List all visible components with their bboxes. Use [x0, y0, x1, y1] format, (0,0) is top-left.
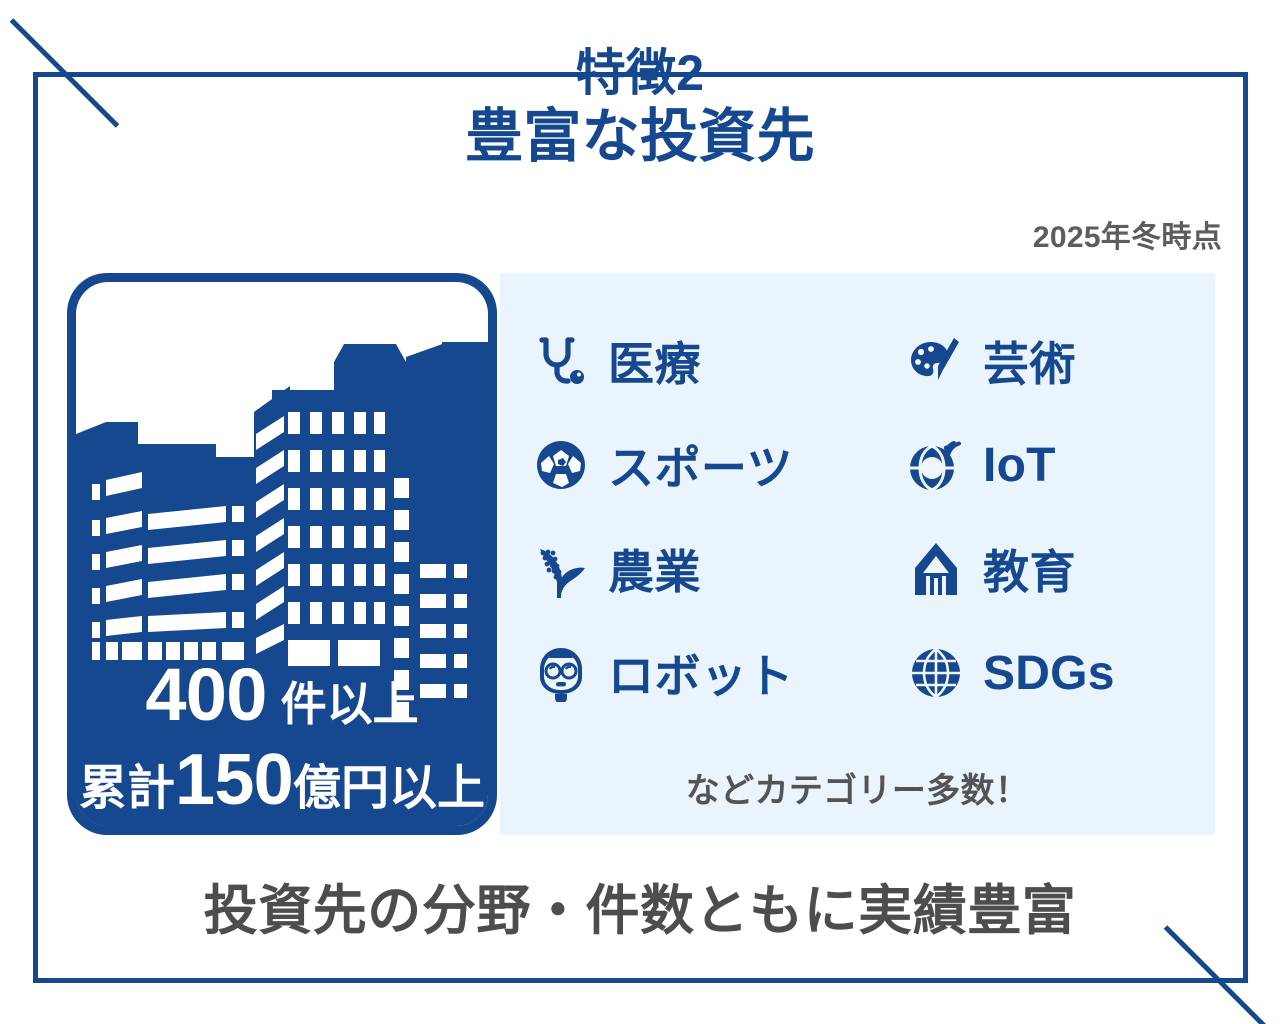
category-label: 芸術 [983, 328, 1076, 394]
as-of-date-label: 2025年冬時点 [1033, 212, 1222, 256]
category-panel: 医療 芸術 [500, 273, 1215, 835]
category-item-iot[interactable]: IoT [905, 434, 1190, 496]
title-eyebrow: 特徴2 [0, 44, 1280, 103]
globe-wifi-icon [905, 434, 967, 496]
category-label: ロボット [608, 640, 794, 706]
category-item-medical[interactable]: 医療 [530, 328, 905, 394]
investment-stat-card: 400 件以上 累計 150 億円以上 [67, 273, 497, 835]
stat-total-value: 150 [175, 739, 293, 821]
frame-bottom-line [33, 978, 1248, 983]
stat-total-row: 累計 150 億円以上 [67, 739, 497, 821]
soccer-ball-icon [530, 434, 592, 496]
category-item-robot[interactable]: ロボット [530, 640, 905, 706]
category-item-agriculture[interactable]: 農業 [530, 536, 905, 602]
robot-head-icon [530, 642, 592, 704]
category-label: スポーツ [608, 432, 793, 498]
frame-right-line [1243, 72, 1248, 983]
category-item-sdgs[interactable]: SDGs [905, 642, 1190, 704]
summary-caption: 投資先の分野・件数ともに実績豊富 [0, 866, 1280, 945]
page-title: 特徴2 豊富な投資先 [0, 44, 1280, 171]
stat-card-text: 400 件以上 累計 150 億円以上 [67, 652, 497, 821]
stethoscope-icon [530, 330, 592, 392]
palette-brush-icon [905, 330, 967, 392]
category-grid: 医療 芸術 [530, 309, 1190, 725]
pencil-icon [905, 538, 967, 600]
infographic-slide: 特徴2 豊富な投資先 2025年冬時点 [0, 0, 1280, 1024]
title-main: 豊富な投資先 [0, 103, 1280, 171]
stat-total-suffix: 億円以上 [293, 748, 485, 818]
category-footer-note: などカテゴリー多数！ [500, 763, 1215, 812]
category-label: 教育 [983, 536, 1076, 602]
globe-grid-icon [905, 642, 967, 704]
stat-count-unit: 件以上 [281, 668, 419, 734]
category-label: SDGs [983, 646, 1115, 701]
stat-total-prefix: 累計 [79, 748, 175, 818]
category-item-education[interactable]: 教育 [905, 536, 1190, 602]
wheat-stalk-icon [530, 538, 592, 600]
category-item-sports[interactable]: スポーツ [530, 432, 905, 498]
stat-count-row: 400 件以上 [67, 652, 497, 737]
stat-count-value: 400 [145, 652, 266, 737]
category-item-art[interactable]: 芸術 [905, 328, 1190, 394]
category-label: 農業 [608, 536, 701, 602]
category-label: IoT [983, 438, 1056, 493]
category-label: 医療 [608, 328, 701, 394]
frame-left-line [33, 72, 38, 983]
